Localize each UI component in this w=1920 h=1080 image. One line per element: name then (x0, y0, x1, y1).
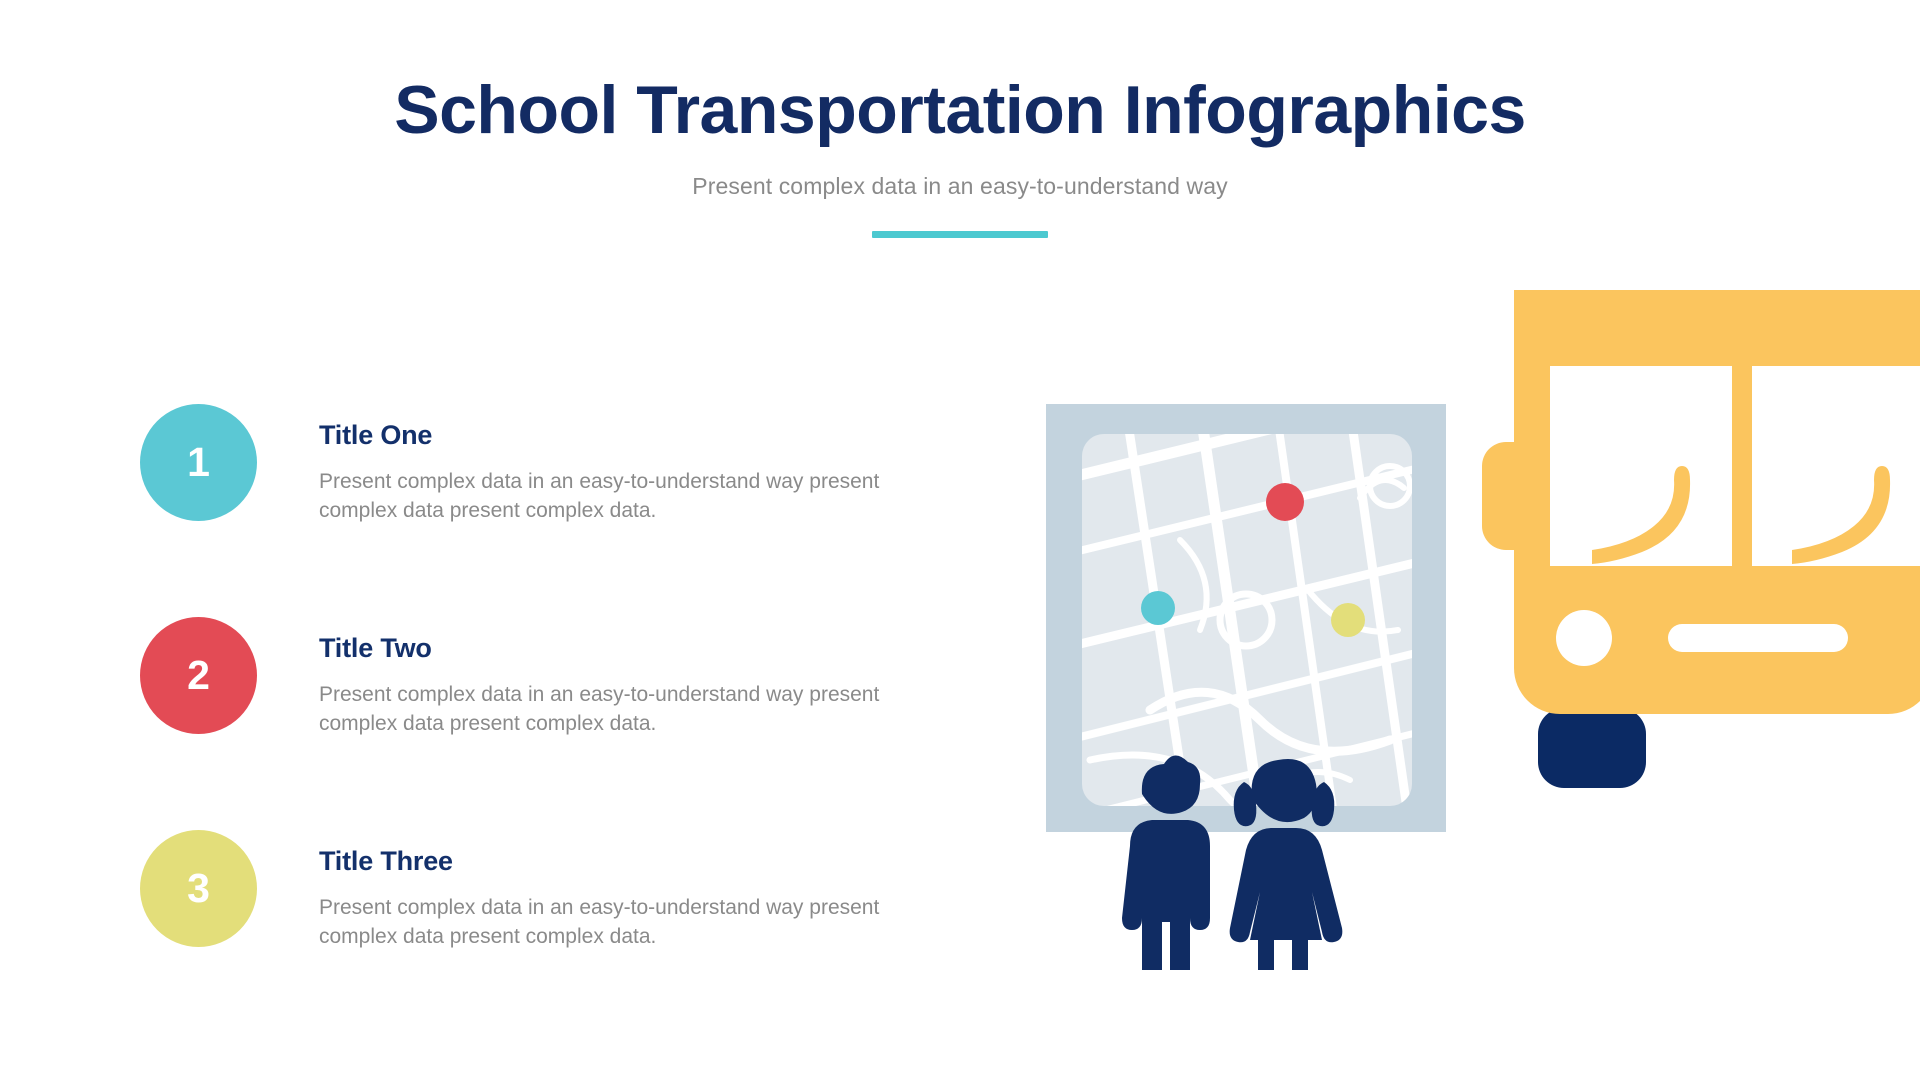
slide-header: School Transportation Infographics Prese… (0, 76, 1920, 238)
item-title: Title Two (319, 633, 959, 664)
item-number-badge-1[interactable]: 1 (140, 404, 257, 521)
item-number-badge-2[interactable]: 2 (140, 617, 257, 734)
map-panel (1050, 385, 1460, 836)
item-description: Present complex data in an easy-to-under… (319, 467, 944, 526)
item-text-block: Title Two Present complex data in an eas… (319, 633, 959, 739)
list-item[interactable]: 2 Title Two Present complex data in an e… (140, 617, 970, 830)
slide-canvas: School Transportation Infographics Prese… (0, 0, 1920, 1080)
girl-figure (1230, 759, 1343, 970)
item-text-block: Title Three Present complex data in an e… (319, 846, 959, 952)
page-title: School Transportation Infographics (0, 76, 1920, 144)
list-item[interactable]: 1 Title One Present complex data in an e… (140, 404, 970, 617)
bus-window-right (1752, 366, 1920, 566)
title-divider (872, 231, 1048, 238)
item-number-badge-3[interactable]: 3 (140, 830, 257, 947)
map-pin-teal (1141, 591, 1175, 625)
school-bus (1482, 290, 1920, 788)
item-number-label: 3 (187, 868, 210, 909)
numbered-item-list: 1 Title One Present complex data in an e… (140, 404, 970, 1043)
bus-wheel (1538, 708, 1646, 788)
item-title: Title One (319, 420, 959, 451)
list-item[interactable]: 3 Title Three Present complex data in an… (140, 830, 970, 1043)
page-subtitle: Present complex data in an easy-to-under… (0, 144, 1920, 200)
item-number-label: 2 (187, 655, 210, 696)
map-pin-red (1266, 483, 1304, 521)
item-title: Title Three (319, 846, 959, 877)
school-bus-and-map-illustration (1030, 290, 1920, 970)
item-description: Present complex data in an easy-to-under… (319, 680, 944, 739)
item-text-block: Title One Present complex data in an eas… (319, 420, 959, 526)
item-description: Present complex data in an easy-to-under… (319, 893, 944, 952)
bus-bumper (1668, 624, 1848, 652)
map-pin-yellow (1331, 603, 1365, 637)
bus-headlight (1556, 610, 1612, 666)
item-number-label: 1 (187, 442, 210, 483)
